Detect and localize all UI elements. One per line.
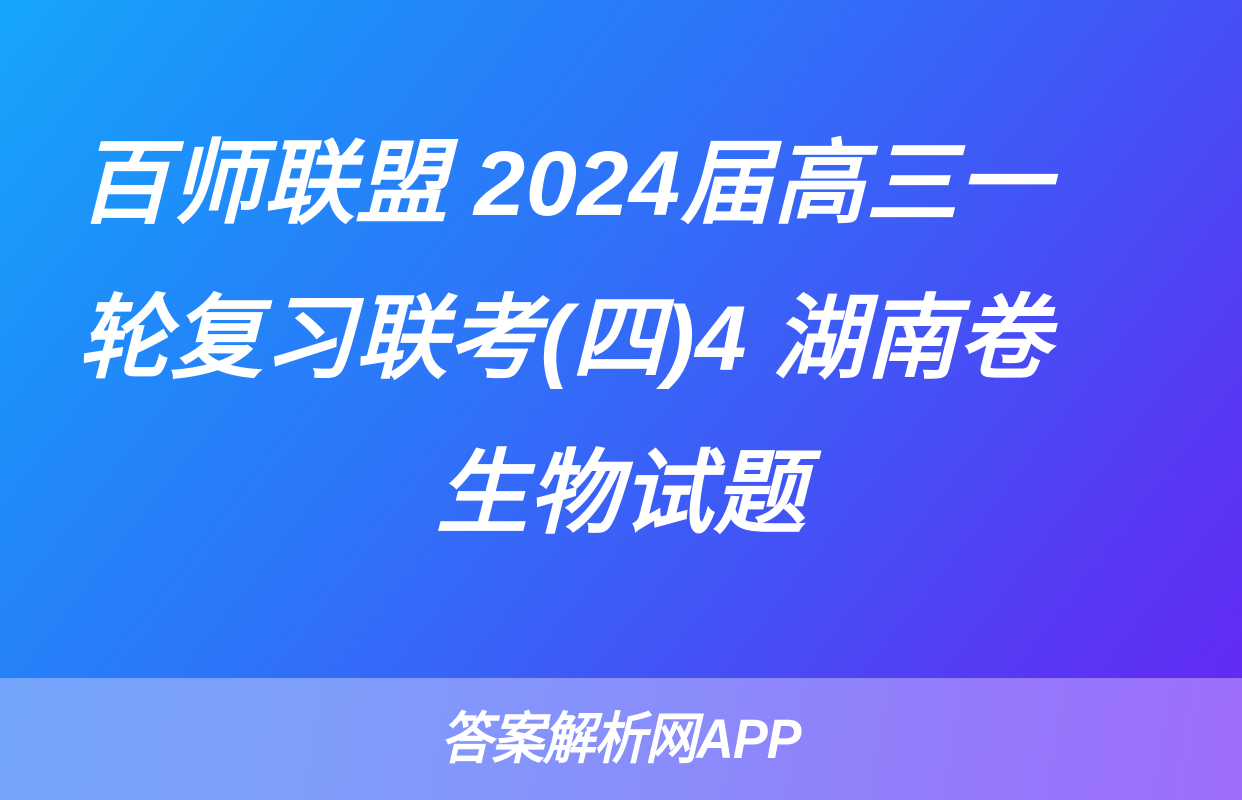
poster-title-line-2: 轮复习联考(四)4 湖南卷 xyxy=(72,262,1170,417)
poster-title-line-1: 百师联盟 2024届高三一 xyxy=(72,107,1170,262)
watermark-app-label: 答案解析网APP xyxy=(441,711,801,767)
poster-title-block: 百师联盟 2024届高三一 轮复习联考(四)4 湖南卷 生物试题 xyxy=(0,0,1242,678)
poster-title-line-3: 生物试题 xyxy=(436,417,806,572)
exam-paper-cover-poster: 百师联盟 2024届高三一 轮复习联考(四)4 湖南卷 生物试题 答案解析网AP… xyxy=(0,0,1242,800)
watermark-band: 答案解析网APP xyxy=(0,678,1242,800)
